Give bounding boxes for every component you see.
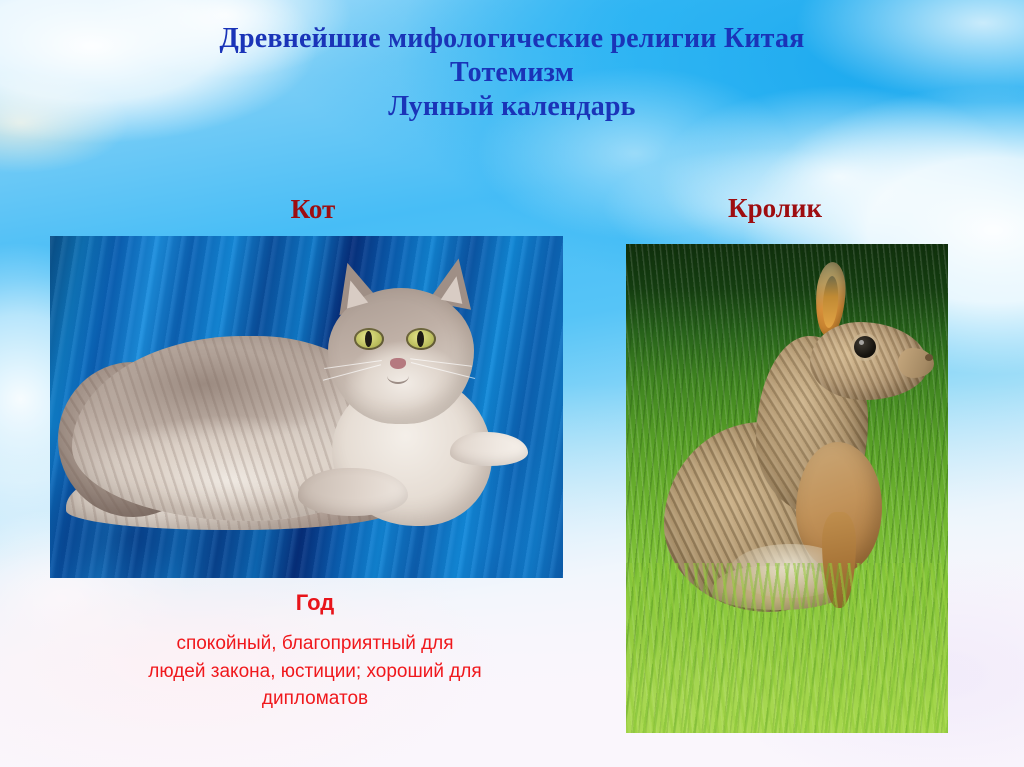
cat-head <box>328 288 474 424</box>
cat-mouth <box>387 368 409 384</box>
heading-rabbit: Кролик <box>700 193 850 224</box>
cat-illustration <box>50 236 563 578</box>
caption-line-2: людей закона, юстиции; хороший для <box>60 658 570 686</box>
caption-line-3: дипломатов <box>60 685 570 713</box>
title-line-3: Лунный календарь <box>0 90 1024 124</box>
title-line-1: Древнейшие мифологические религии Китая <box>0 22 1024 56</box>
year-caption: Год спокойный, благоприятный для людей з… <box>60 590 570 713</box>
rabbit-eye <box>854 336 876 358</box>
grass-foreground <box>626 563 948 733</box>
caption-body: спокойный, благоприятный для людей закон… <box>60 630 570 713</box>
cat-front-paw-near <box>450 432 528 466</box>
cat-front-paw-far <box>298 468 408 516</box>
cat-pupil-left <box>365 331 372 347</box>
cat-pupil-right <box>417 331 424 347</box>
slide-canvas: Древнейшие мифологические религии Китая … <box>0 0 1024 767</box>
rabbit-muzzle <box>898 348 934 378</box>
slide-title: Древнейшие мифологические религии Китая … <box>0 22 1024 124</box>
heading-cat: Кот <box>238 194 388 225</box>
title-line-2: Тотемизм <box>0 56 1024 90</box>
caption-line-1: спокойный, благоприятный для <box>60 630 570 658</box>
cat-photo <box>50 236 563 578</box>
rabbit-photo <box>626 244 948 733</box>
caption-heading: Год <box>60 590 570 616</box>
rabbit-nose <box>925 354 933 361</box>
